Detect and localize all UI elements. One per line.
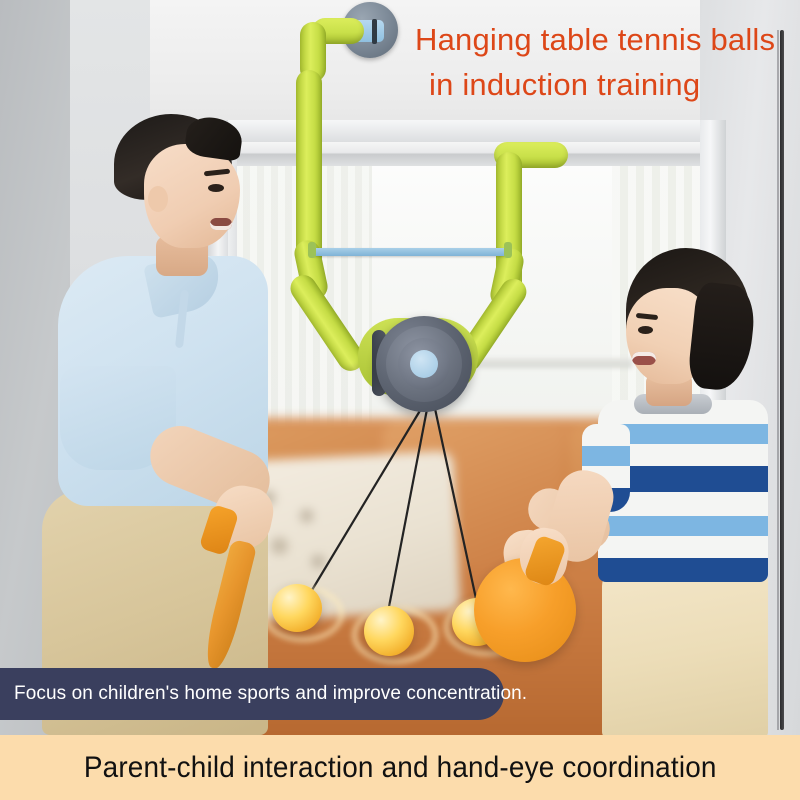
door-edge-highlight bbox=[777, 30, 779, 730]
headline-line-1: Hanging table tennis balls bbox=[415, 22, 775, 57]
crossbar-cap-left bbox=[308, 242, 316, 258]
child-pants bbox=[602, 568, 768, 735]
adult-figure bbox=[36, 108, 296, 735]
caption-bar: Focus on children's home sports and impr… bbox=[0, 668, 504, 720]
product-photo: Hanging table tennis balls in induction … bbox=[0, 0, 800, 735]
wall-mount-slot bbox=[372, 19, 377, 44]
door-edge bbox=[780, 30, 784, 730]
child-eye bbox=[638, 326, 653, 334]
banner-text: Parent-child interaction and hand-eye co… bbox=[84, 751, 717, 785]
hub-center-button bbox=[410, 350, 438, 378]
headline: Hanging table tennis balls in induction … bbox=[415, 18, 785, 108]
caption-text: Focus on children's home sports and impr… bbox=[0, 683, 527, 705]
blue-crossbar bbox=[310, 248, 510, 256]
adult-ear bbox=[148, 186, 168, 212]
adult-mouth bbox=[210, 218, 232, 230]
crossbar-cap-right bbox=[504, 242, 512, 258]
headline-line-2: in induction training bbox=[415, 63, 785, 108]
adult-eye bbox=[208, 184, 224, 192]
child-mouth bbox=[632, 352, 656, 365]
bottom-banner: Parent-child interaction and hand-eye co… bbox=[0, 735, 800, 800]
marketing-image: Hanging table tennis balls in induction … bbox=[0, 0, 800, 800]
child-figure bbox=[588, 248, 800, 735]
training-ball bbox=[364, 606, 414, 656]
child-hair-side bbox=[687, 281, 758, 393]
